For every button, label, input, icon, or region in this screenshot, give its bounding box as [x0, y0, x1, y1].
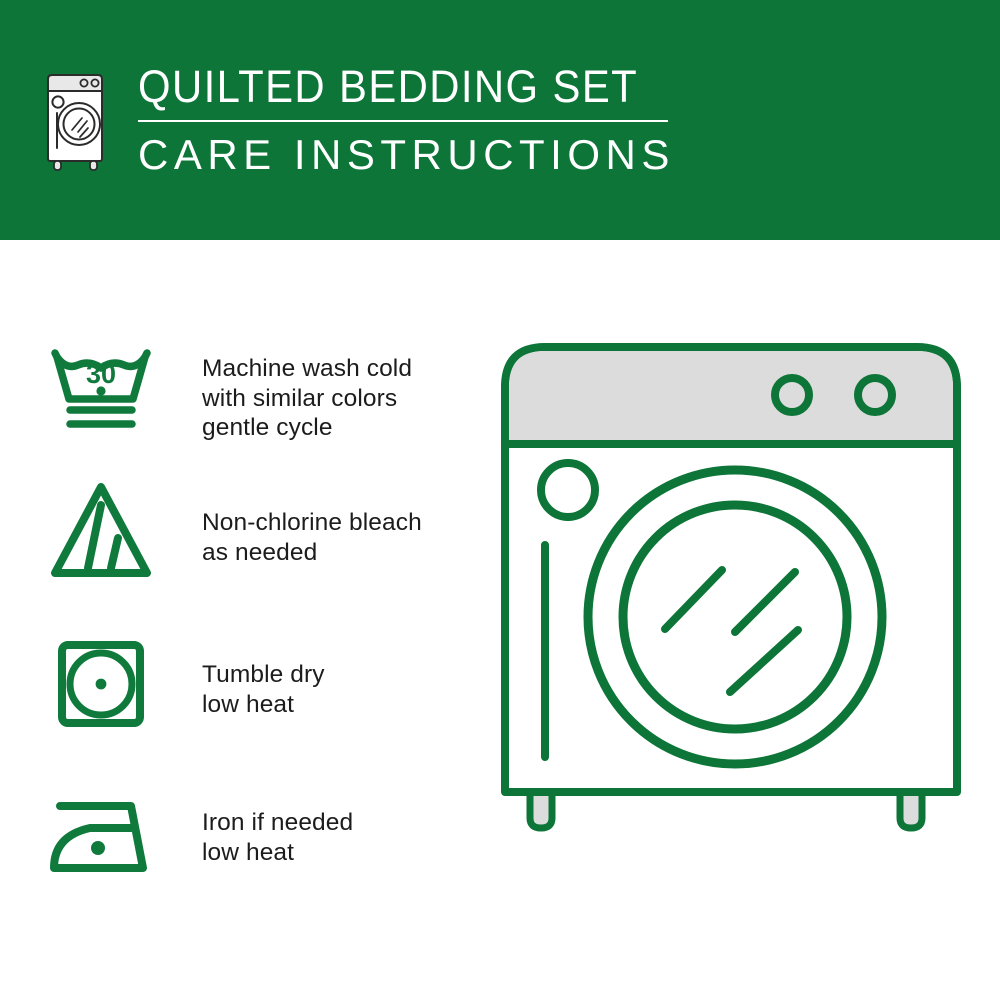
care-symbol-slot	[48, 790, 154, 890]
care-text-line: low heat	[202, 690, 325, 720]
care-instructions-infographic: QUILTED BEDDING SET CARE INSTRUCTIONS 30	[0, 0, 1000, 1000]
control-panel	[509, 351, 953, 444]
care-item-iron: Iron if needed low heat	[48, 790, 353, 890]
care-symbol-slot: 30	[48, 343, 154, 443]
care-text-line: Machine wash cold	[202, 354, 412, 384]
washing-machine-icon	[44, 64, 110, 174]
care-text-line: Iron if needed	[202, 808, 353, 838]
care-text-machine-wash: Machine wash cold with similar colors ge…	[202, 343, 412, 443]
washing-machine-graphic	[490, 332, 980, 932]
dry-heat-dot-icon	[96, 679, 107, 690]
title-divider	[138, 120, 668, 122]
care-text-iron: Iron if needed low heat	[202, 790, 353, 867]
header-content: QUILTED BEDDING SET CARE INSTRUCTIONS	[44, 62, 676, 178]
care-item-bleach: Non-chlorine bleach as needed	[48, 480, 422, 580]
care-text-line: Non-chlorine bleach	[202, 508, 422, 538]
care-item-machine-wash: 30 Machine wash cold with similar colors…	[48, 343, 412, 443]
care-text-line: Tumble dry	[202, 660, 325, 690]
page-title: QUILTED BEDDING SET	[138, 62, 638, 112]
page-subtitle: CARE INSTRUCTIONS	[138, 132, 676, 178]
care-symbol-slot	[48, 638, 154, 738]
wash-dot-icon	[96, 386, 105, 395]
care-instruction-list: 30 Machine wash cold with similar colors…	[0, 240, 470, 1000]
wash-temperature-label: 30	[86, 359, 116, 389]
washing-machine-illustration	[490, 332, 980, 932]
care-text-line: low heat	[202, 838, 353, 868]
tumble-dry-low-icon	[48, 638, 154, 738]
header-title-block: QUILTED BEDDING SET CARE INSTRUCTIONS	[138, 62, 676, 178]
iron-low-heat-icon	[48, 790, 154, 890]
iron-heat-dot-icon	[91, 841, 105, 855]
care-item-tumble-dry: Tumble dry low heat	[48, 638, 325, 738]
care-text-line: gentle cycle	[202, 413, 412, 443]
care-text-line: as needed	[202, 538, 422, 568]
header-banner: QUILTED BEDDING SET CARE INSTRUCTIONS	[0, 0, 1000, 240]
care-text-bleach: Non-chlorine bleach as needed	[202, 480, 422, 567]
care-text-line: with similar colors	[202, 384, 412, 414]
wash-tub-30-icon: 30	[48, 343, 154, 443]
care-text-tumble-dry: Tumble dry low heat	[202, 638, 325, 719]
care-symbol-slot	[48, 480, 154, 580]
non-chlorine-bleach-triangle-icon	[48, 480, 154, 580]
